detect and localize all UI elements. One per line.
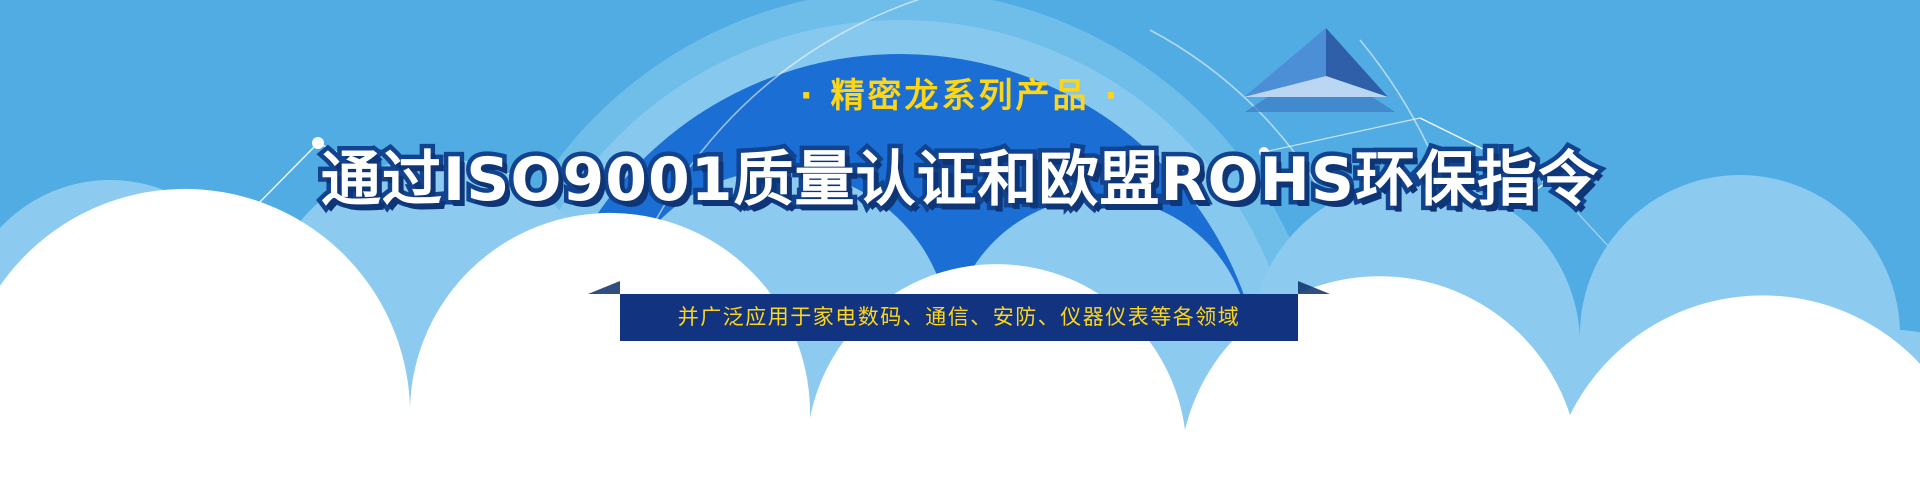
promo-banner: · 精密龙系列产品 · 通过ISO9001质量认证和欧盟ROHS环保指令 并广泛…	[0, 0, 1920, 480]
banner-background	[0, 0, 1920, 480]
